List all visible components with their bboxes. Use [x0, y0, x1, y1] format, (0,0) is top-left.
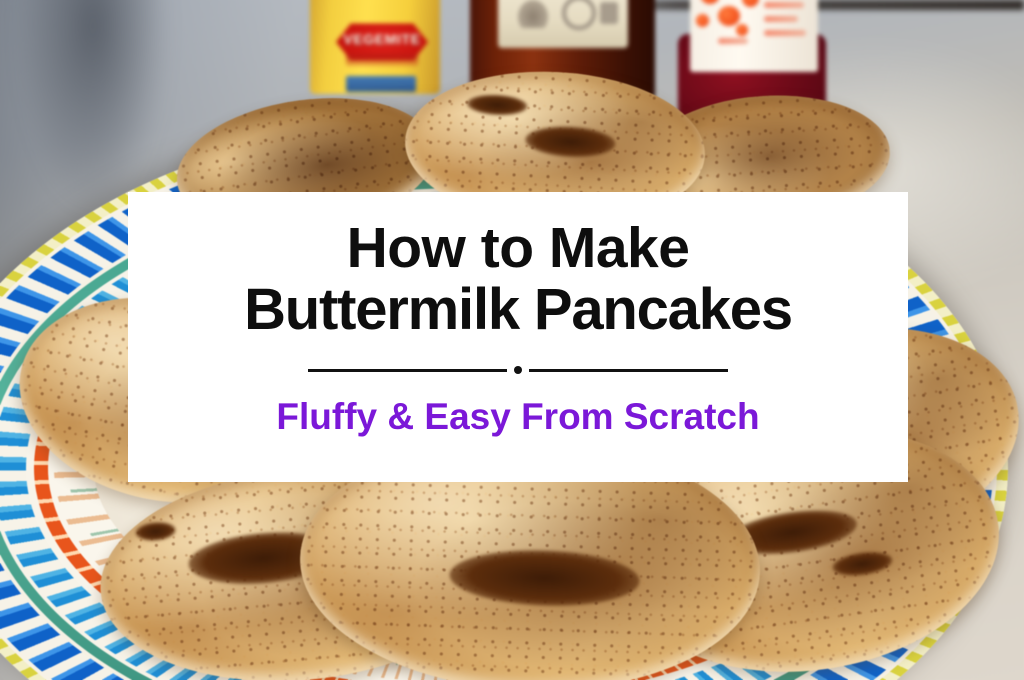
jam-jar-label	[690, 0, 818, 72]
jam-label-text-bar	[764, 30, 806, 36]
divider-bar-left	[308, 369, 507, 372]
title-card: How to Make Buttermilk Pancakes Fluffy &…	[128, 192, 908, 482]
title-line-2: Buttermilk Pancakes	[128, 279, 908, 341]
countertop-shadow	[18, 0, 168, 210]
vegemite-label-blue-tag	[346, 76, 416, 92]
jam-label-berry	[736, 24, 748, 36]
jam-label-berry	[696, 14, 709, 27]
pin-graphic: VEGEMITE	[0, 0, 1024, 680]
jam-label-berry	[718, 6, 740, 26]
syrup-label-icon-c	[600, 2, 618, 24]
vegemite-label-subline	[346, 54, 418, 66]
jam-label-text-bar	[764, 2, 804, 8]
syrup-label-icon-a	[518, 0, 548, 28]
divider-dot-icon	[514, 366, 522, 374]
subtitle: Fluffy & Easy From Scratch	[276, 396, 759, 438]
jam-label-text-bar	[718, 38, 748, 44]
page-title: How to Make Buttermilk Pancakes	[128, 218, 908, 341]
vegemite-jar: VEGEMITE	[310, 0, 440, 94]
title-line-1: How to Make	[347, 216, 690, 280]
vegemite-wordmark: VEGEMITE	[340, 31, 424, 47]
jam-label-text-bar	[764, 16, 798, 22]
divider-bar-right	[529, 369, 728, 372]
divider	[308, 366, 728, 374]
